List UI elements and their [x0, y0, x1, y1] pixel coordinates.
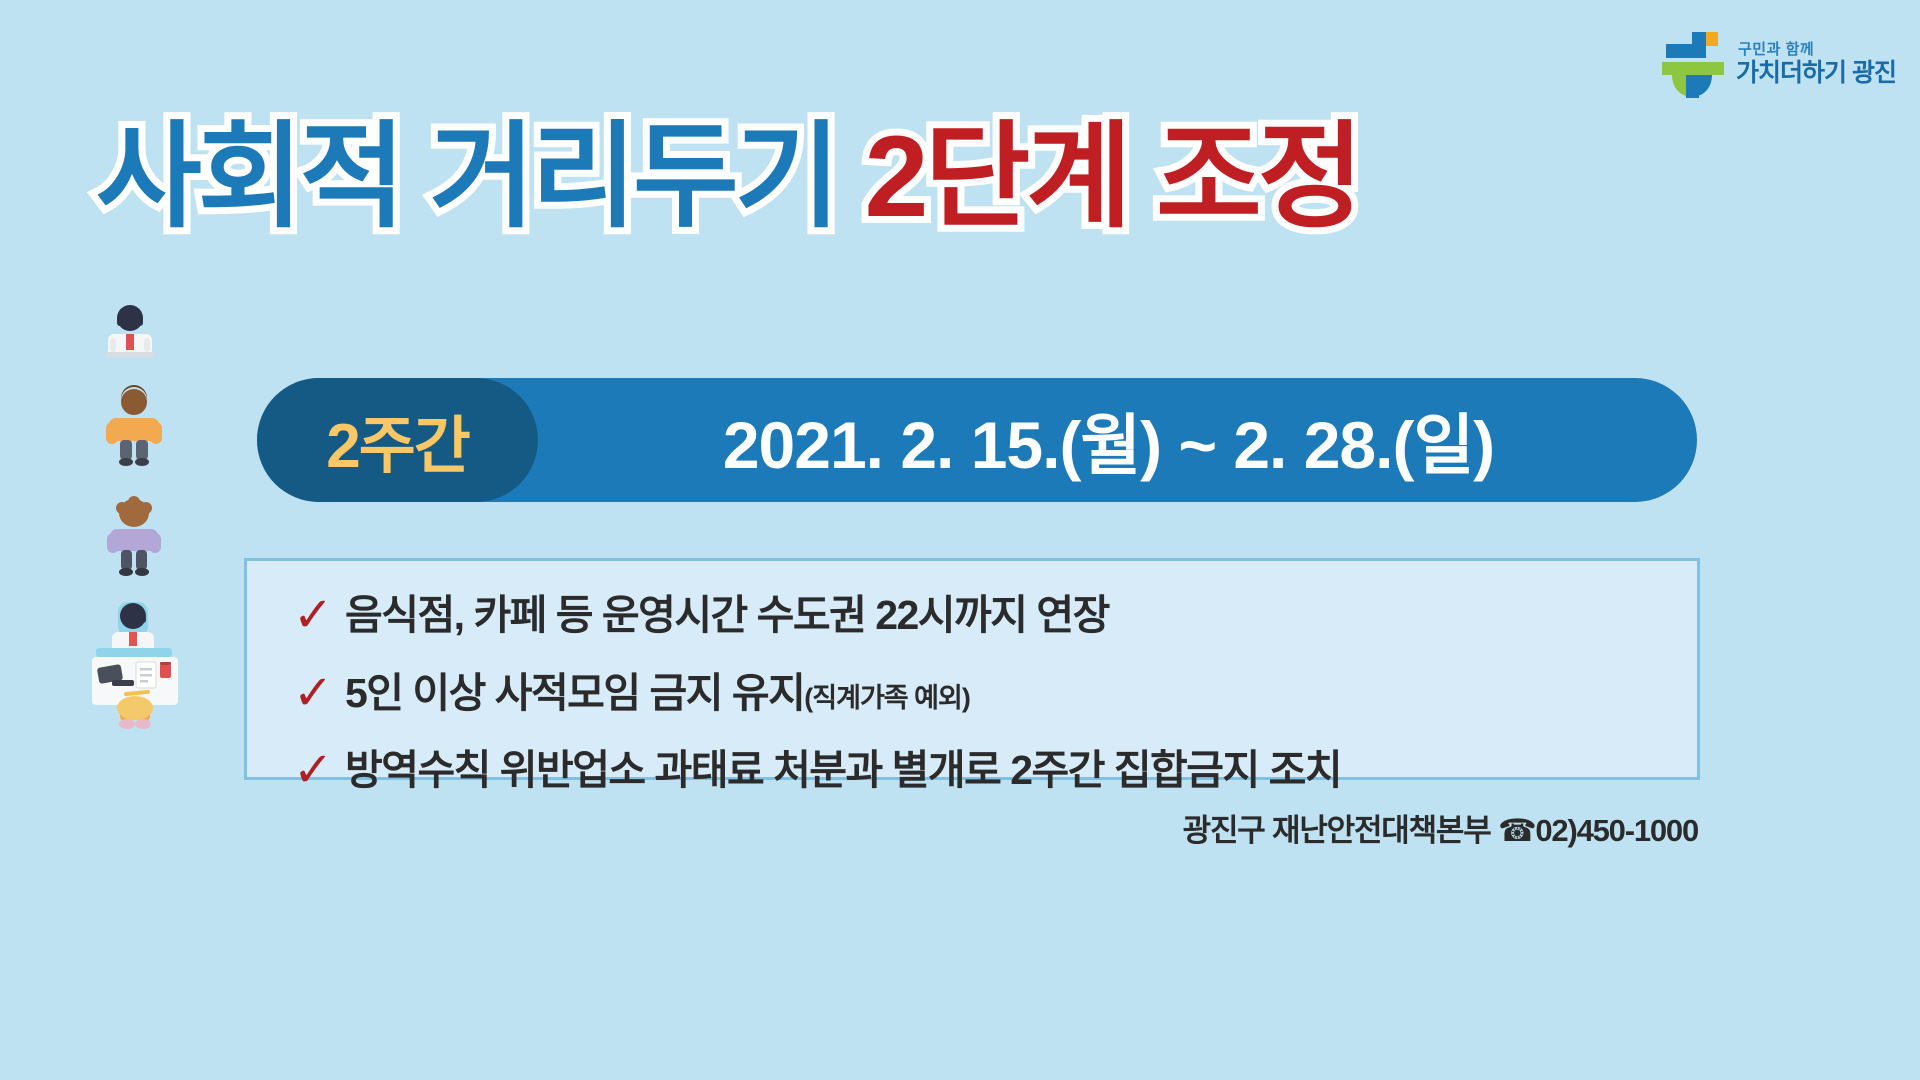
person-3-icon — [107, 496, 161, 576]
check-icon: ✓ — [293, 748, 345, 794]
title-part-1: 사회적 거리두기 — [96, 113, 837, 241]
measure-main: 음식점, 카페 등 운영시간 수도권 22시까지 연장 — [345, 592, 1109, 638]
check-icon: ✓ — [293, 593, 345, 639]
person-2-icon — [106, 385, 162, 466]
people-illustration — [90, 300, 220, 830]
measure-text: 5인 이상 사적모임 금지 유지(직계가족 예외) — [345, 673, 970, 714]
page-title: 사회적 거리두기 2단계 조정 — [96, 104, 1360, 251]
date-banner: 2주간 2021. 2. 15.(월) ~ 2. 28.(일) — [257, 378, 1697, 502]
contact-footer: 광진구 재난안전대책본부 ☎02)450-1000 — [1183, 805, 1698, 850]
measure-note: (직계가족 예외) — [804, 683, 970, 713]
logo-name: 가치더하기 광진 — [1736, 61, 1896, 86]
gwangjin-gu-logo: 구민과 함께 가치더하기 광진 — [1660, 30, 1896, 98]
list-item: ✓ 음식점, 카페 등 운영시간 수도권 22시까지 연장 — [293, 595, 1697, 641]
person-4-desk-icon — [92, 602, 178, 729]
title-part-2: 2단계 조정 — [865, 113, 1360, 241]
check-icon: ✓ — [293, 671, 345, 717]
measure-main: 방역수칙 위반업소 과태료 처분과 별개로 2주간 집합금지 조치 — [345, 747, 1341, 793]
person-1-icon — [106, 305, 154, 357]
date-range-text: 2021. 2. 15.(월) ~ 2. 28.(일) — [538, 392, 1697, 488]
logo-slogan: 구민과 함께 — [1736, 42, 1896, 57]
duration-badge: 2주간 — [257, 378, 538, 502]
gwangjin-gu-symbol-icon — [1660, 30, 1726, 98]
measure-main: 5인 이상 사적모임 금지 유지 — [345, 670, 804, 716]
measure-text: 방역수칙 위반업소 과태료 처분과 별개로 2주간 집합금지 조치 — [345, 750, 1341, 791]
measure-text: 음식점, 카페 등 운영시간 수도권 22시까지 연장 — [345, 595, 1109, 636]
measures-box: ✓ 음식점, 카페 등 운영시간 수도권 22시까지 연장 ✓ 5인 이상 사적… — [244, 558, 1700, 780]
list-item: ✓ 5인 이상 사적모임 금지 유지(직계가족 예외) — [293, 673, 1697, 719]
list-item: ✓ 방역수칙 위반업소 과태료 처분과 별개로 2주간 집합금지 조치 — [293, 750, 1697, 796]
